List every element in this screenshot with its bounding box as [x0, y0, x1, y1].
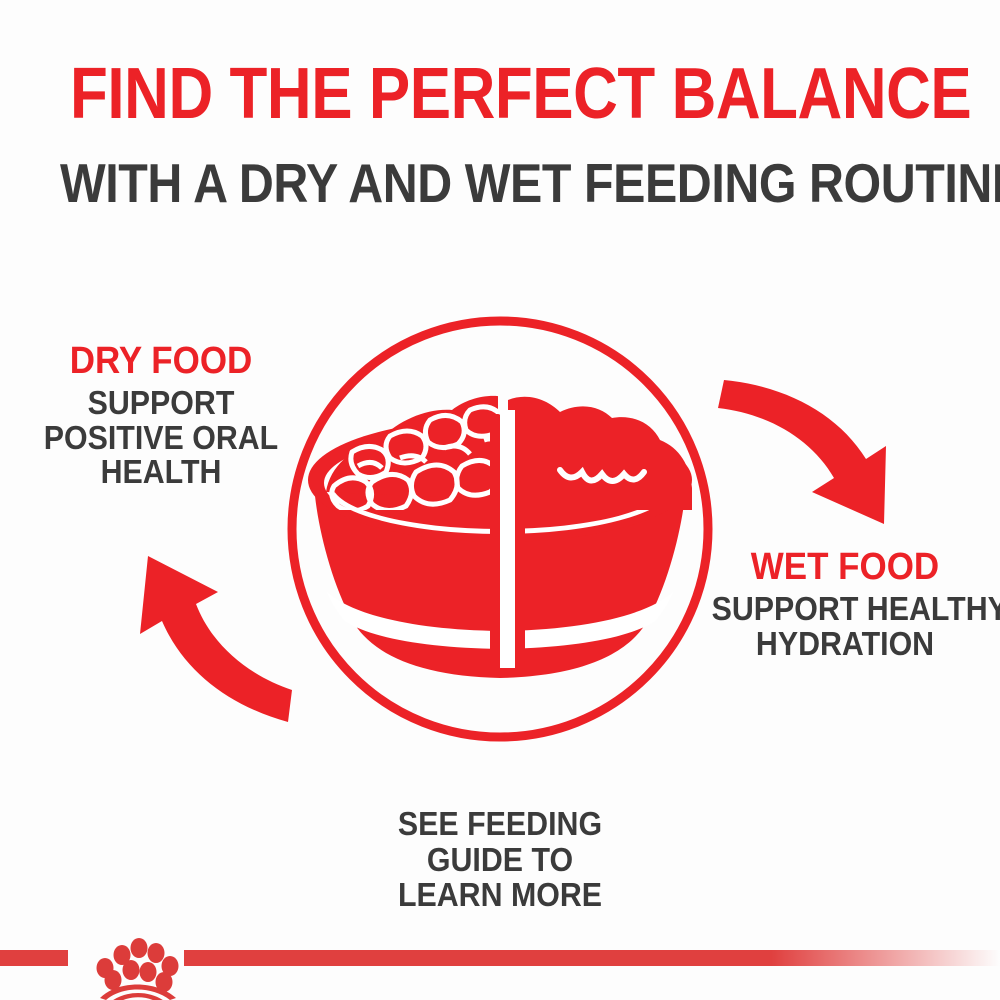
page-subtitle: WITH A DRY AND WET FEEDING ROUTINE	[60, 156, 940, 211]
wet-food-edge-detail	[560, 470, 644, 481]
dry-kibble-half	[326, 396, 514, 511]
footer-bar-right	[184, 950, 1000, 966]
dry-food-callout: DRY FOOD SUPPORT POSITIVE ORAL HEALTH	[20, 342, 302, 490]
wet-food-line-1: SUPPORT HEALTHY	[712, 592, 979, 627]
bowl-base-highlight	[327, 592, 673, 649]
page-title: FIND THE PERFECT BALANCE	[70, 58, 930, 130]
caption-line-1: SEE FEEDING	[40, 806, 960, 842]
divider-bar-right	[514, 414, 525, 664]
caption-line-2: GUIDE TO	[40, 842, 960, 878]
wet-food-heading: WET FOOD	[712, 548, 979, 588]
wet-food-callout: WET FOOD SUPPORT HEALTHY HYDRATION	[700, 548, 990, 661]
footer-bar-left	[0, 950, 68, 966]
dry-food-line-1: SUPPORT	[31, 386, 290, 421]
feeding-guide-caption: SEE FEEDING GUIDE TO LEARN MORE	[0, 806, 1000, 913]
dry-food-line-2: POSITIVE ORAL	[31, 421, 290, 456]
bowl-rim-inner-line	[324, 432, 676, 534]
divider-gap	[500, 410, 515, 668]
divider-bar-left	[490, 414, 501, 664]
vertical-divider-bars	[490, 410, 525, 668]
red-outline-circle	[292, 321, 708, 737]
wet-food-half	[508, 397, 692, 510]
caption-line-3: LEARN MORE	[40, 877, 960, 913]
bowl-lower-body	[314, 484, 686, 678]
curved-arrow-to-wet-food	[718, 380, 886, 524]
crown-logo	[97, 938, 179, 1000]
dry-food-heading: DRY FOOD	[31, 342, 290, 382]
wet-food-mound	[508, 397, 692, 510]
poster-root: FIND THE PERFECT BALANCE WITH A DRY AND …	[0, 0, 1000, 1000]
dry-food-line-3: HEALTH	[31, 455, 290, 490]
bowl-rim-outer	[308, 418, 692, 542]
footer-bar-group	[0, 930, 1000, 1000]
curved-arrow-to-dry-food	[140, 556, 292, 722]
kibble-mound	[326, 396, 514, 500]
bowl-interior	[332, 439, 668, 529]
wet-food-line-2: HYDRATION	[712, 627, 979, 662]
pet-food-bowl	[308, 396, 692, 678]
